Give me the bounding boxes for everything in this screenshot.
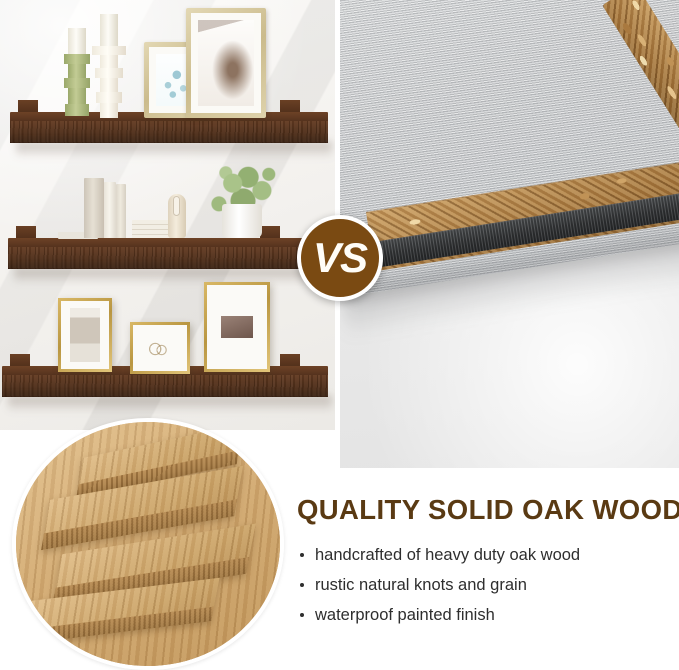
list-item: handcrafted of heavy duty oak wood	[297, 545, 679, 566]
feature-bullet-list: handcrafted of heavy duty oak wood rusti…	[297, 545, 679, 626]
book	[84, 178, 104, 238]
shelf-drop-shadow	[8, 396, 332, 412]
shelf-front-face	[2, 375, 328, 397]
shelf-middle	[8, 238, 308, 284]
particleboard-shelf-photo	[340, 0, 679, 468]
comparison-section: VS	[0, 0, 679, 470]
shelf-front-face	[8, 247, 308, 269]
figure-artwork	[198, 20, 254, 106]
list-item: waterproof painted finish	[297, 605, 679, 626]
book	[104, 182, 116, 238]
frame-mat	[61, 301, 109, 369]
bullet-dot-icon	[300, 553, 304, 557]
shelf-front-face	[10, 121, 328, 143]
feature-headline: QUALITY SOLID OAK WOOD	[297, 496, 679, 525]
vs-badge-label: VS	[313, 237, 367, 279]
infographic-canvas: VS QUALITY SOLID OAK WOOD handcrafted of…	[0, 0, 679, 669]
vs-badge: VS	[297, 215, 383, 301]
bullet-dot-icon	[300, 583, 304, 587]
book-stack-horizontal	[132, 220, 170, 238]
solid-oak-shelves-photo	[0, 0, 335, 430]
bullet-dot-icon	[300, 613, 304, 617]
shelf-top	[10, 112, 328, 158]
sketch-artwork	[144, 338, 175, 358]
frame-mat	[133, 325, 187, 371]
bullet-text: waterproof painted finish	[315, 606, 495, 624]
frame-mat	[191, 13, 261, 113]
candle-holder-cream	[100, 14, 118, 118]
list-item: rustic natural knots and grain	[297, 575, 679, 596]
gold-frame-sketch	[130, 322, 190, 374]
solid-oak-boards-circle	[12, 418, 284, 670]
bullet-text: handcrafted of heavy duty oak wood	[315, 546, 580, 564]
candle-holder-green	[68, 28, 86, 116]
shelf-drop-shadow	[16, 142, 332, 158]
picture-frame-figure	[186, 8, 266, 118]
gold-frame-family-photo	[204, 282, 270, 372]
frame-mat	[207, 285, 267, 369]
portrait-photo	[70, 308, 100, 361]
plant-pot	[222, 204, 262, 238]
book	[116, 184, 126, 238]
feature-copy: QUALITY SOLID OAK WOOD handcrafted of he…	[297, 496, 679, 635]
bullet-text: rustic natural knots and grain	[315, 576, 527, 594]
gold-frame-portrait	[58, 298, 112, 372]
sculptural-vase	[168, 194, 186, 238]
family-photo	[221, 316, 253, 338]
